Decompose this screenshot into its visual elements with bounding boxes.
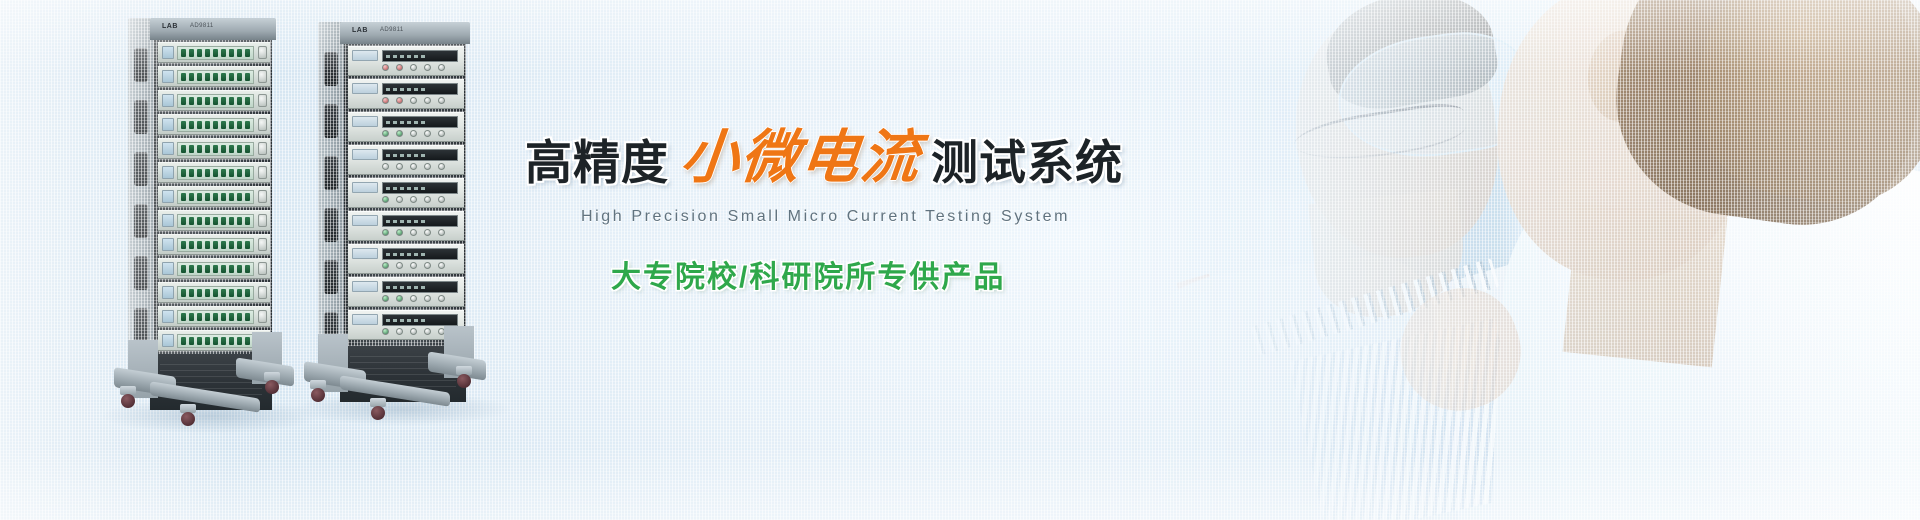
rack-right-frame (318, 22, 344, 380)
headline-suffix: 测试系统 (931, 139, 1123, 186)
instrument-indicator (352, 314, 378, 325)
module-knob (258, 262, 267, 275)
frame-slot (134, 308, 148, 342)
rack-module (158, 66, 270, 87)
rack-left-caster-1 (118, 386, 138, 408)
instrument-indicator (352, 149, 378, 160)
instrument-indicator (352, 215, 378, 226)
rack-instrument (348, 178, 464, 208)
module-knob (258, 46, 267, 59)
instrument-screen (382, 116, 458, 128)
rack-module (158, 114, 270, 135)
module-connector-strip (177, 70, 254, 84)
rack-module (158, 90, 270, 111)
product-banner: LAB AD9811 (0, 0, 1920, 520)
instrument-buttons (382, 260, 458, 270)
module-knob (258, 118, 267, 131)
module-knob (258, 166, 267, 179)
instrument-screen (382, 50, 458, 62)
module-connector-strip (177, 310, 254, 324)
instrument-indicator (352, 248, 378, 259)
instrument-buttons (382, 161, 458, 171)
module-display (162, 46, 174, 59)
lab-researchers-photo (1100, 0, 1920, 520)
headline-accent: 小微电流 (678, 128, 924, 186)
instrument-buttons (382, 128, 458, 138)
instrument-screen (382, 281, 458, 293)
instrument-screen (382, 248, 458, 260)
module-display (162, 310, 174, 323)
frame-slot (324, 208, 338, 242)
instrument-screen (382, 83, 458, 95)
module-display (162, 190, 174, 203)
module-display (162, 262, 174, 275)
headline-prefix: 高精度 (525, 139, 669, 186)
rack-instrument (348, 79, 464, 109)
module-display (162, 238, 174, 251)
rack-module (158, 234, 270, 255)
rack-instrument (348, 145, 464, 175)
rack-right-caster-1 (308, 380, 328, 402)
instrument-buttons (382, 227, 458, 237)
module-display (162, 286, 174, 299)
instrument-screen (382, 215, 458, 227)
instrument-buttons (382, 194, 458, 204)
rack-module (158, 42, 270, 63)
module-display (162, 142, 174, 155)
instrument-indicator (352, 83, 378, 94)
instrument-indicator (352, 116, 378, 127)
module-knob (258, 286, 267, 299)
rack-instrument (348, 211, 464, 241)
tagline: 大专院校/科研院所专供产品 (611, 252, 1045, 296)
module-knob (258, 238, 267, 251)
rack-module (158, 138, 270, 159)
module-connector-strip (177, 334, 254, 348)
instrument-indicator (352, 50, 378, 61)
frame-slot (324, 52, 338, 86)
rack-left-model: AD9811 (190, 23, 214, 29)
module-knob (258, 142, 267, 155)
rack-module (158, 306, 270, 327)
module-display (162, 166, 174, 179)
subtitle-english: High Precision Small Micro Current Testi… (581, 208, 1045, 226)
instrument-buttons (382, 95, 458, 105)
module-knob (258, 214, 267, 227)
rack-instrument (348, 277, 464, 307)
instrument-buttons (382, 62, 458, 72)
rack-left-caster-3 (178, 404, 198, 426)
instrument-screen (382, 149, 458, 161)
rack-module (158, 258, 270, 279)
frame-slot (134, 48, 148, 82)
rack-left-brand: LAB (162, 23, 178, 30)
module-display (162, 94, 174, 107)
module-display (162, 334, 174, 347)
instrument-indicator (352, 182, 378, 193)
rack-module (158, 282, 270, 303)
module-connector-strip (177, 94, 254, 108)
module-display (162, 70, 174, 83)
module-connector-strip (177, 46, 254, 60)
module-connector-strip (177, 238, 254, 252)
module-display (162, 214, 174, 227)
instrument-indicator (352, 281, 378, 292)
module-knob (258, 310, 267, 323)
rack-instrument (348, 46, 464, 76)
rack-right-caster-2 (454, 366, 474, 388)
photo-fade-overlay (1100, 0, 1920, 520)
module-connector-strip (177, 166, 254, 180)
frame-slot (134, 100, 148, 134)
rack-left-caster-2 (262, 372, 282, 394)
module-connector-strip (177, 214, 254, 228)
frame-slot (324, 260, 338, 294)
rack-right-caster-3 (368, 398, 388, 420)
module-knob (258, 70, 267, 83)
frame-slot (324, 156, 338, 190)
rack-instrument (348, 112, 464, 142)
module-knob (258, 190, 267, 203)
instrument-screen (382, 314, 458, 326)
module-display (162, 118, 174, 131)
instrument-buttons (382, 293, 458, 303)
rack-right-brand: LAB (352, 27, 368, 34)
rack-module (158, 162, 270, 183)
module-knob (258, 94, 267, 107)
module-connector-strip (177, 190, 254, 204)
frame-slot (134, 152, 148, 186)
module-connector-strip (177, 142, 254, 156)
module-connector-strip (177, 286, 254, 300)
module-connector-strip (177, 118, 254, 132)
frame-slot (134, 204, 148, 238)
rack-left-frame (128, 18, 154, 388)
frame-slot (134, 256, 148, 290)
module-connector-strip (177, 262, 254, 276)
frame-slot (324, 104, 338, 138)
rack-module (158, 186, 270, 207)
instrument-screen (382, 182, 458, 194)
banner-copy: 高精度 小微电流 测试系统 High Precision Small Micro… (525, 128, 1045, 296)
rack-right-model: AD9811 (380, 27, 404, 33)
rack-module (158, 210, 270, 231)
rack-instrument (348, 244, 464, 274)
headline: 高精度 小微电流 测试系统 (525, 128, 1045, 186)
